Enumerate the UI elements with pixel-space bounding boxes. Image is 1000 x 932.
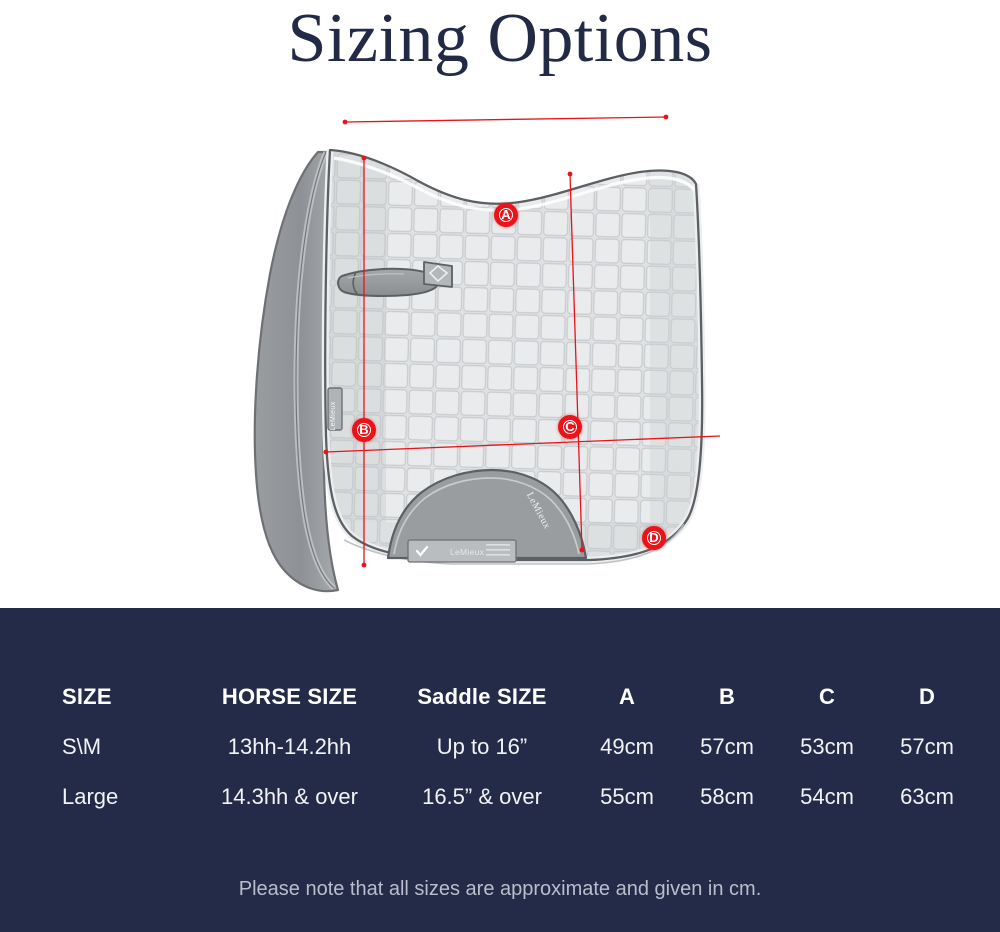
cell-saddle-size: Up to 16” xyxy=(387,722,577,772)
saddle-pad-illustration: LeMieux LeMieux LeMieux xyxy=(0,92,1000,608)
cell-a: 55cm xyxy=(577,772,677,822)
measure-marker-a: A xyxy=(494,203,518,227)
column-header-d: D xyxy=(877,672,977,722)
column-header-horse-size: HORSE SIZE xyxy=(192,672,387,722)
column-header-a: A xyxy=(577,672,677,722)
column-header-size: SIZE xyxy=(62,672,192,722)
size-table: SIZE HORSE SIZE Saddle SIZE A B C D S\M … xyxy=(62,672,977,822)
table-header-row: SIZE HORSE SIZE Saddle SIZE A B C D xyxy=(62,672,977,722)
cell-b: 58cm xyxy=(677,772,777,822)
table-row: Large 14.3hh & over 16.5” & over 55cm 58… xyxy=(62,772,977,822)
table-row: S\M 13hh-14.2hh Up to 16” 49cm 57cm 53cm… xyxy=(62,722,977,772)
cell-c: 54cm xyxy=(777,772,877,822)
cell-d: 57cm xyxy=(877,722,977,772)
cell-d: 63cm xyxy=(877,772,977,822)
cell-c: 53cm xyxy=(777,722,877,772)
measure-line-a xyxy=(345,117,666,122)
page-title: Sizing Options xyxy=(0,0,1000,82)
pad-side-label: LeMieux xyxy=(328,388,342,431)
measure-marker-c: C xyxy=(558,415,582,439)
saddle-pad-drawing: LeMieux LeMieux LeMieux xyxy=(0,92,1000,608)
sizing-footnote: Please note that all sizes are approxima… xyxy=(0,878,1000,901)
cell-horse-size: 13hh-14.2hh xyxy=(192,722,387,772)
measure-marker-b: B xyxy=(352,418,376,442)
cell-size: Large xyxy=(62,772,192,822)
cell-a: 49cm xyxy=(577,722,677,772)
svg-text:LeMieux: LeMieux xyxy=(450,547,485,557)
cell-horse-size: 14.3hh & over xyxy=(192,772,387,822)
column-header-c: C xyxy=(777,672,877,722)
column-header-b: B xyxy=(677,672,777,722)
measure-marker-d: D xyxy=(642,526,666,550)
column-header-saddle-size: Saddle SIZE xyxy=(387,672,577,722)
svg-text:LeMieux: LeMieux xyxy=(330,401,337,430)
cell-saddle-size: 16.5” & over xyxy=(387,772,577,822)
size-table-body: S\M 13hh-14.2hh Up to 16” 49cm 57cm 53cm… xyxy=(62,722,977,822)
size-table-head: SIZE HORSE SIZE Saddle SIZE A B C D xyxy=(62,672,977,722)
sizing-options-page: Sizing Options xyxy=(0,0,1000,932)
cell-b: 57cm xyxy=(677,722,777,772)
cell-size: S\M xyxy=(62,722,192,772)
pad-logo-tab xyxy=(424,262,452,287)
sizing-table-panel: SIZE HORSE SIZE Saddle SIZE A B C D S\M … xyxy=(0,608,1000,932)
